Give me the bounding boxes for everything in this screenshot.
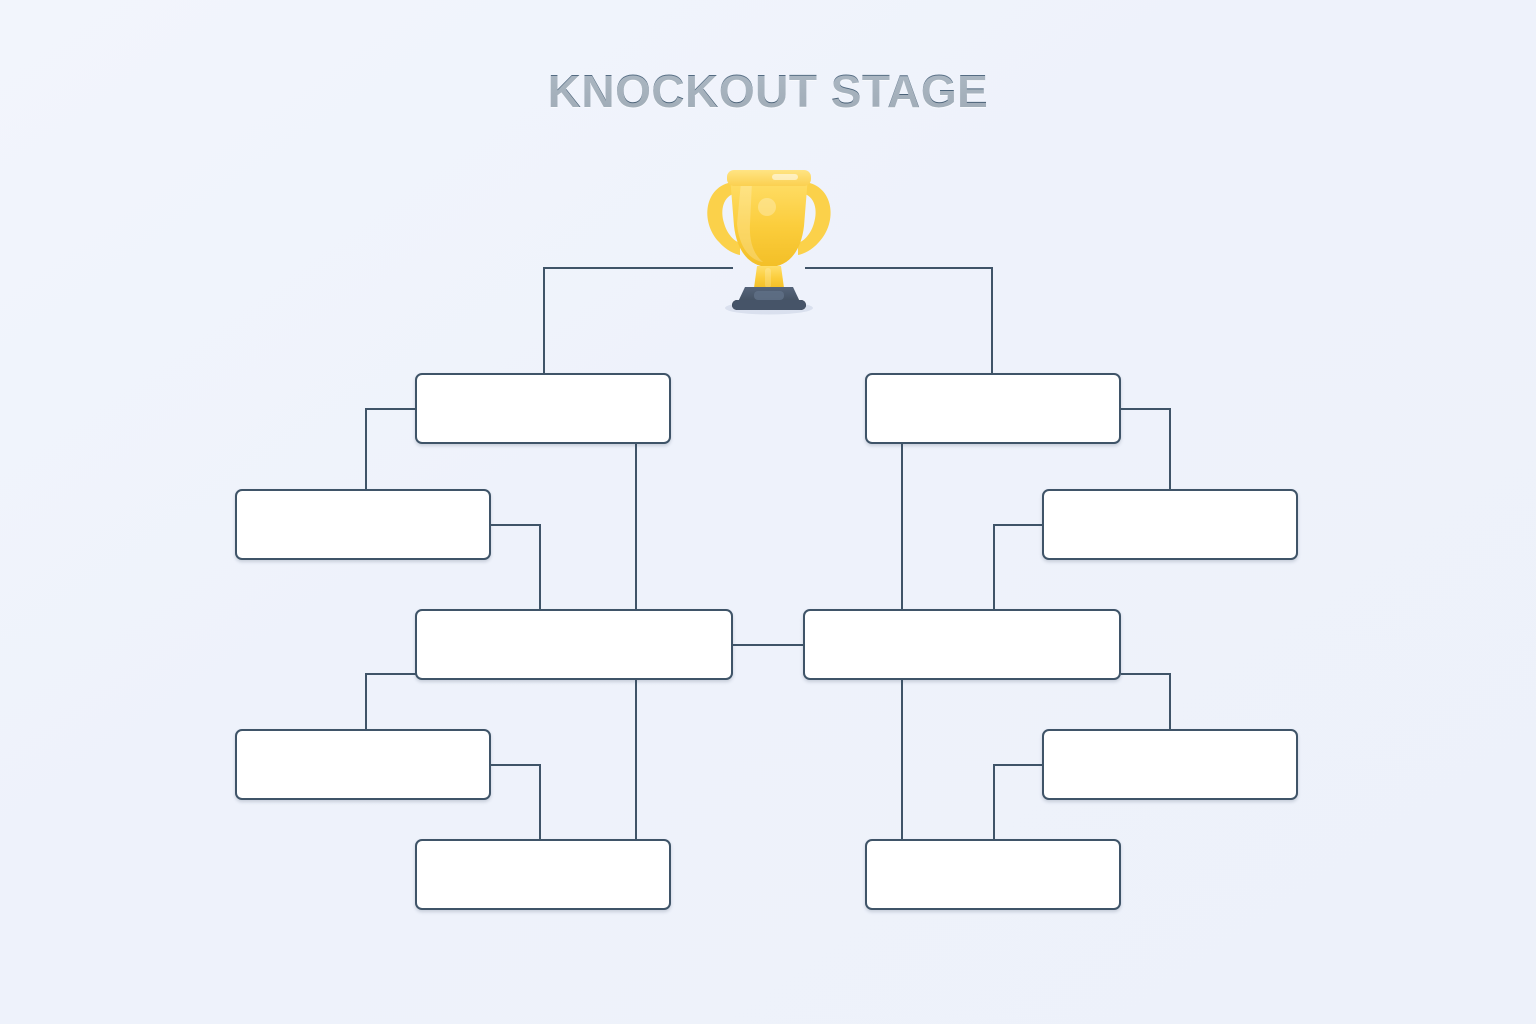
trophy-icon (694, 160, 844, 315)
connector-left-final-to-r16 (635, 680, 637, 840)
bracket-slot-right-quarterfinal-2[interactable] (1042, 729, 1298, 800)
connector-left-semi-in-h (365, 408, 417, 410)
bracket-slot-right-round-of-16[interactable] (865, 839, 1121, 910)
connector-right-qf2-out-h (993, 764, 1044, 766)
connector-left-final-in-h (365, 673, 417, 675)
connector-right-semi-in-h (1121, 408, 1171, 410)
bracket-slot-right-final[interactable] (803, 609, 1121, 680)
connector-left-semi-to-final (635, 444, 637, 610)
bracket-slot-right-semifinal[interactable] (865, 373, 1121, 444)
connector-right-qf1-out-v (993, 524, 995, 609)
connector-left-qf2-out-v (539, 764, 541, 839)
bracket-slot-left-semifinal[interactable] (415, 373, 671, 444)
connector-right-qf2-out-v (993, 764, 995, 839)
connector-left-qf1-out-v (539, 524, 541, 609)
connector-right-qf1-out-h (993, 524, 1044, 526)
connector-right-final-in-h (1121, 673, 1171, 675)
connector-champion-right-drop (991, 267, 993, 374)
bracket-slot-left-final[interactable] (415, 609, 733, 680)
bracket-slot-right-quarterfinal-1[interactable] (1042, 489, 1298, 560)
connector-right-final-to-r16 (901, 680, 903, 840)
bracket-slot-left-round-of-16[interactable] (415, 839, 671, 910)
connector-left-qf2-out-h (491, 764, 541, 766)
connector-center-bridge (733, 644, 803, 646)
bracket-slot-left-quarterfinal-2[interactable] (235, 729, 491, 800)
connector-champion-left-drop (543, 267, 545, 374)
bracket-slot-left-quarterfinal-1[interactable] (235, 489, 491, 560)
connector-right-semi-to-final (901, 444, 903, 610)
bracket-canvas: KNOCKOUT STAGE (0, 0, 1536, 1024)
connector-left-qf1-out-h (491, 524, 541, 526)
page-title: KNOCKOUT STAGE (0, 64, 1536, 118)
